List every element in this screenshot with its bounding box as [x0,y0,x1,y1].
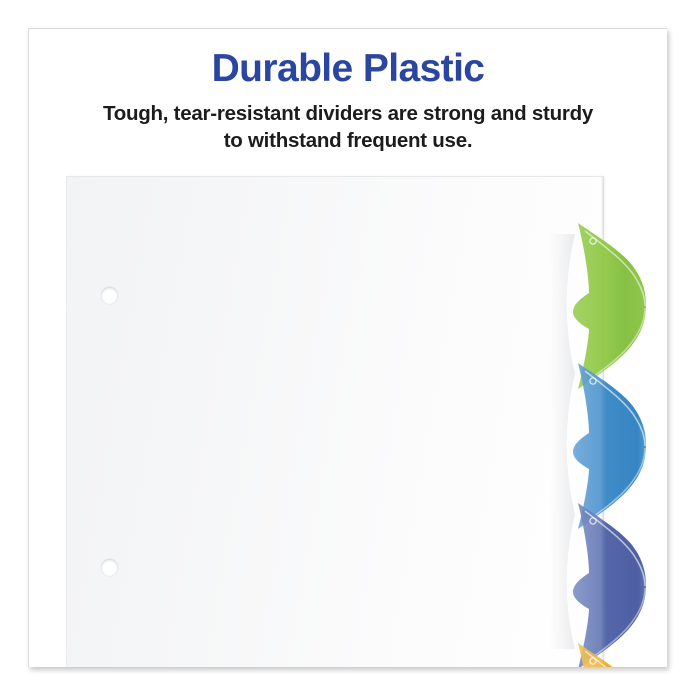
page-subtitle: Tough, tear-resistant dividers are stron… [29,92,667,154]
page-subtitle-line-2: to withstand frequent use. [29,127,667,154]
punch-hole-bottom [101,559,118,576]
divider-sheet [66,176,604,667]
page-title: Durable Plastic [29,29,667,92]
sheet-right-edge [601,177,604,667]
product-image-card: Durable Plastic Tough, tear-resistant di… [28,28,667,667]
punch-hole-top [101,287,118,304]
page-subtitle-line-1: Tough, tear-resistant dividers are stron… [29,100,667,127]
headline-block: Durable Plastic Tough, tear-resistant di… [29,29,667,154]
